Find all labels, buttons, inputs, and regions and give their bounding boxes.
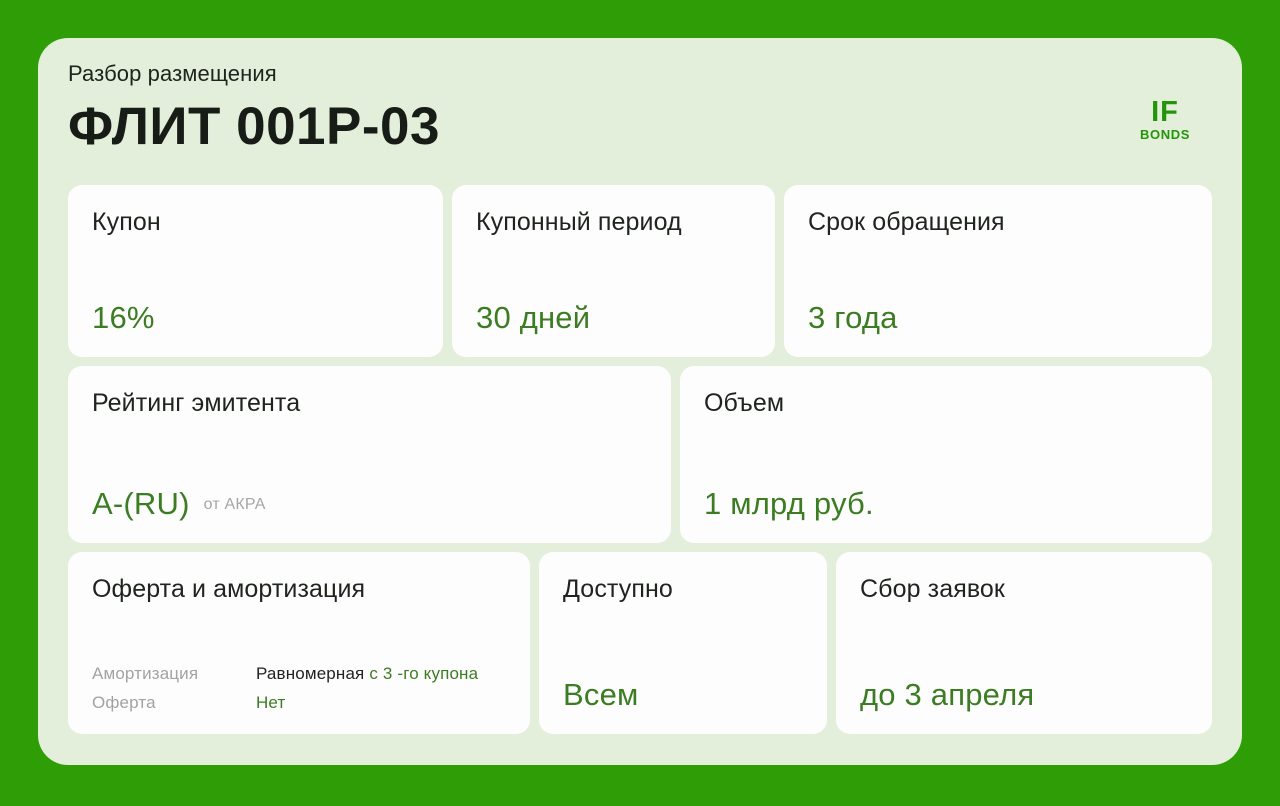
detail-value-accent: с 3 -го купона bbox=[369, 663, 478, 685]
card-book-building-label: Сбор заявок bbox=[860, 574, 1188, 605]
card-term: Срок обращения 3 года bbox=[784, 185, 1212, 357]
card-book-building-value: до 3 апреля bbox=[860, 676, 1188, 714]
card-issuer-rating-agency: от АКРА bbox=[204, 496, 266, 514]
infographic-canvas: Разбор размещения ФЛИТ 001Р-03 IF BONDS … bbox=[0, 0, 1280, 806]
header-kicker: Разбор размещения bbox=[68, 60, 1212, 88]
cards-grid: Купон 16% Купонный период 30 дней Срок о… bbox=[68, 185, 1212, 743]
card-volume: Объем 1 млрд руб. bbox=[680, 366, 1212, 543]
offer-amortization-details: Амортизация Равномерная с 3 -го купона О… bbox=[92, 663, 506, 714]
card-available-label: Доступно bbox=[563, 574, 803, 605]
card-coupon-value: 16% bbox=[92, 299, 419, 337]
card-volume-label: Объем bbox=[704, 388, 1188, 419]
card-book-building: Сбор заявок до 3 апреля bbox=[836, 552, 1212, 734]
content-panel: Разбор размещения ФЛИТ 001Р-03 IF BONDS … bbox=[38, 38, 1242, 765]
card-issuer-rating-value: A-(RU) bbox=[92, 485, 190, 523]
detail-value-accent: Нет bbox=[256, 692, 285, 714]
logo-secondary-text: BONDS bbox=[1120, 127, 1210, 143]
cards-row-2: Рейтинг эмитента A-(RU) от АКРА Объем 1 … bbox=[68, 366, 1212, 543]
card-coupon-period: Купонный период 30 дней bbox=[452, 185, 775, 357]
logo-primary-text: IF bbox=[1120, 98, 1210, 126]
detail-key: Оферта bbox=[92, 692, 256, 714]
card-available: Доступно Всем bbox=[539, 552, 827, 734]
card-issuer-rating-value-group: A-(RU) от АКРА bbox=[92, 485, 647, 523]
header: Разбор размещения ФЛИТ 001Р-03 IF BONDS bbox=[68, 60, 1212, 180]
cards-row-1: Купон 16% Купонный период 30 дней Срок о… bbox=[68, 185, 1212, 357]
if-bonds-logo: IF BONDS bbox=[1120, 98, 1210, 143]
card-offer-amortization: Оферта и амортизация Амортизация Равноме… bbox=[68, 552, 530, 734]
detail-row: Амортизация Равномерная с 3 -го купона bbox=[92, 663, 506, 685]
card-available-value: Всем bbox=[563, 676, 803, 714]
card-coupon-period-value: 30 дней bbox=[476, 299, 751, 337]
card-coupon-label: Купон bbox=[92, 207, 419, 238]
card-issuer-rating-label: Рейтинг эмитента bbox=[92, 388, 647, 419]
card-volume-value: 1 млрд руб. bbox=[704, 485, 1188, 523]
card-coupon-period-label: Купонный период bbox=[476, 207, 751, 238]
cards-row-3: Оферта и амортизация Амортизация Равноме… bbox=[68, 552, 1212, 734]
card-term-label: Срок обращения bbox=[808, 207, 1188, 238]
card-coupon: Купон 16% bbox=[68, 185, 443, 357]
card-offer-amortization-label: Оферта и амортизация bbox=[92, 574, 506, 605]
detail-value-primary: Равномерная bbox=[256, 663, 364, 685]
page-title: ФЛИТ 001Р-03 bbox=[68, 96, 1212, 158]
detail-key: Амортизация bbox=[92, 663, 256, 685]
detail-row: Оферта Нет bbox=[92, 692, 506, 714]
card-issuer-rating: Рейтинг эмитента A-(RU) от АКРА bbox=[68, 366, 671, 543]
card-term-value: 3 года bbox=[808, 299, 1188, 337]
